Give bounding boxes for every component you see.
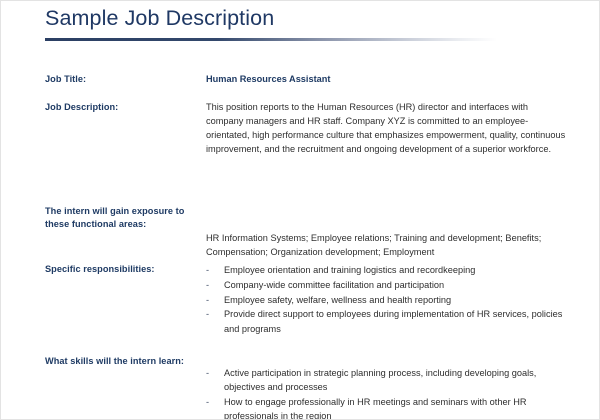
page-title: Sample Job Description <box>45 5 565 32</box>
responsibilities-list: - Employee orientation and training logi… <box>206 263 566 336</box>
list-item: - Provide direct support to employees du… <box>206 307 566 336</box>
document-page: Sample Job Description Job Title: Human … <box>0 0 600 420</box>
section-job-description: Job Description: This position reports t… <box>1 101 600 205</box>
section-functional-areas: The intern will gain exposure to these f… <box>1 205 600 263</box>
label-functional-areas: The intern will gain exposure to these f… <box>45 205 200 231</box>
section-job-title: Job Title: Human Resources Assistant <box>1 73 600 101</box>
label-skills: What skills will the intern learn: <box>45 355 200 368</box>
value-job-title: Human Resources Assistant <box>206 73 566 87</box>
label-responsibilities: Specific responsibilities: <box>45 263 200 276</box>
section-skills: What skills will the intern learn: - Act… <box>1 355 600 420</box>
list-item: - Active participation in strategic plan… <box>206 366 566 395</box>
bullet-dash-icon: - <box>206 366 209 380</box>
bullet-dash-icon: - <box>206 278 209 292</box>
skills-list-wrap: - Active participation in strategic plan… <box>206 366 566 420</box>
document-header: Sample Job Description <box>45 5 565 41</box>
title-underline-rule <box>45 38 497 41</box>
bullet-dash-icon: - <box>206 395 209 409</box>
list-item: - How to engage professionally in HR mee… <box>206 395 566 420</box>
value-job-description: This position reports to the Human Resou… <box>206 101 566 157</box>
list-item: - Employee orientation and training logi… <box>206 263 566 277</box>
list-item-text: Employee orientation and training logist… <box>224 265 475 275</box>
document-body: Job Title: Human Resources Assistant Job… <box>1 73 600 420</box>
label-job-description: Job Description: <box>45 101 200 114</box>
list-item-text: How to engage professionally in HR meeti… <box>224 397 527 420</box>
skills-list: - Active participation in strategic plan… <box>206 366 566 420</box>
bullet-dash-icon: - <box>206 307 209 321</box>
responsibilities-list-wrap: - Employee orientation and training logi… <box>206 263 566 336</box>
label-job-title: Job Title: <box>45 73 200 86</box>
list-item-text: Employee safety, welfare, wellness and h… <box>224 295 451 305</box>
list-item: - Company-wide committee facilitation an… <box>206 278 566 292</box>
bullet-dash-icon: - <box>206 293 209 307</box>
value-functional-areas: HR Information Systems; Employee relatio… <box>206 232 566 260</box>
list-item-text: Provide direct support to employees duri… <box>224 309 562 333</box>
list-item-text: Active participation in strategic planni… <box>224 368 536 392</box>
list-item: - Employee safety, welfare, wellness and… <box>206 293 566 307</box>
list-item-text: Company-wide committee facilitation and … <box>224 280 444 290</box>
bullet-dash-icon: - <box>206 263 209 277</box>
section-responsibilities: Specific responsibilities: - Employee or… <box>1 263 600 355</box>
